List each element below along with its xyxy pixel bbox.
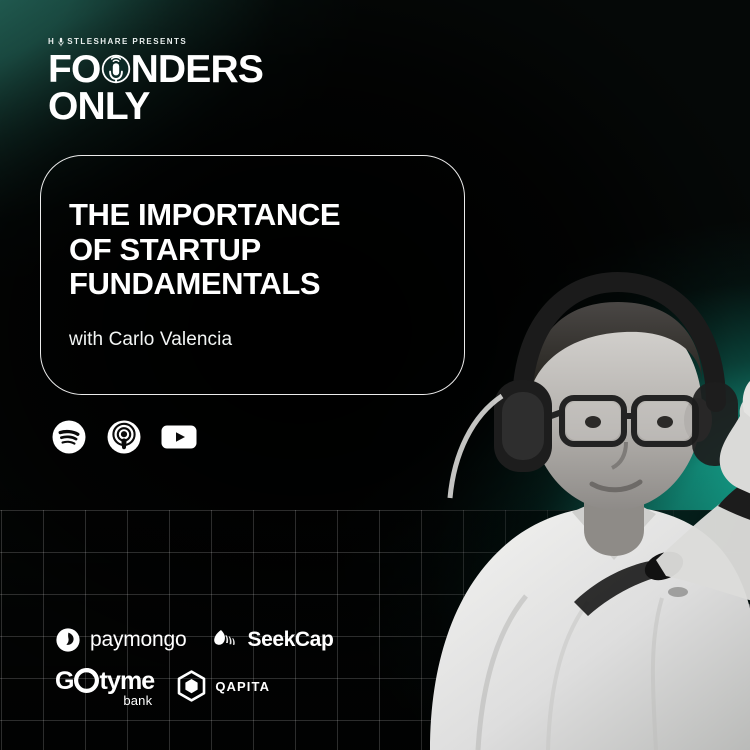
sponsor-logos: paymongo SeekCap G bbox=[55, 627, 333, 708]
sponsor-row-1: paymongo SeekCap bbox=[55, 627, 333, 653]
sponsor-seekcap-label: SeekCap bbox=[247, 628, 333, 652]
apple-podcasts-icon[interactable] bbox=[105, 418, 143, 456]
wordmark-nders: NDERS bbox=[131, 52, 264, 88]
spotify-icon[interactable] bbox=[50, 418, 88, 456]
presents-line: H STLESHARE PRESENTS bbox=[48, 36, 263, 46]
podcast-cover-art: H STLESHARE PRESENTS FO bbox=[0, 0, 750, 750]
presents-prefix: H bbox=[48, 37, 55, 46]
episode-title-card: THE IMPORTANCE OF STARTUP FUNDAMENTALS w… bbox=[40, 155, 465, 395]
seekcap-mark-icon bbox=[212, 627, 240, 653]
brand-wordmark: FO NDERS ONLY bbox=[48, 51, 263, 125]
sponsor-paymongo: paymongo bbox=[55, 627, 186, 653]
presents-suffix: STLESHARE PRESENTS bbox=[67, 37, 187, 46]
episode-host: with Carlo Valencia bbox=[69, 329, 464, 351]
youtube-icon[interactable] bbox=[160, 418, 198, 456]
platform-icons bbox=[50, 418, 198, 456]
sponsor-row-2: G tyme bank QAPITA bbox=[55, 664, 333, 708]
gotyme-tyme: tyme bbox=[100, 667, 155, 696]
microphone-icon-small bbox=[58, 37, 64, 47]
gotyme-o-mark-icon bbox=[74, 668, 99, 693]
wordmark-line-2: ONLY bbox=[48, 89, 263, 125]
wordmark-line-1: FO NDERS bbox=[48, 51, 263, 89]
microphone-icon bbox=[101, 50, 131, 88]
episode-title-line-1: THE IMPORTANCE bbox=[69, 198, 464, 233]
qapita-hex-icon bbox=[176, 670, 207, 703]
sponsor-gotyme-bank: G tyme bank bbox=[55, 664, 154, 708]
episode-title-line-3: FUNDAMENTALS bbox=[69, 267, 464, 302]
paymongo-mark-icon bbox=[55, 627, 81, 653]
sponsor-seekcap: SeekCap bbox=[212, 627, 333, 653]
gotyme-main: G tyme bbox=[55, 664, 154, 696]
sponsor-paymongo-label: paymongo bbox=[90, 628, 186, 652]
gotyme-lockup: G tyme bank bbox=[55, 664, 154, 708]
sponsor-qapita-label: QAPITA bbox=[215, 679, 270, 694]
wordmark-fo: FO bbox=[48, 52, 101, 88]
gotyme-bank-label: bank bbox=[123, 693, 152, 708]
episode-title-line-2: OF STARTUP bbox=[69, 233, 464, 268]
wordmark-only: ONLY bbox=[48, 89, 150, 125]
episode-title: THE IMPORTANCE OF STARTUP FUNDAMENTALS bbox=[69, 198, 464, 302]
brand-header: H STLESHARE PRESENTS FO bbox=[48, 36, 263, 125]
sponsor-qapita: QAPITA bbox=[176, 670, 270, 703]
gotyme-g: G bbox=[55, 667, 74, 696]
